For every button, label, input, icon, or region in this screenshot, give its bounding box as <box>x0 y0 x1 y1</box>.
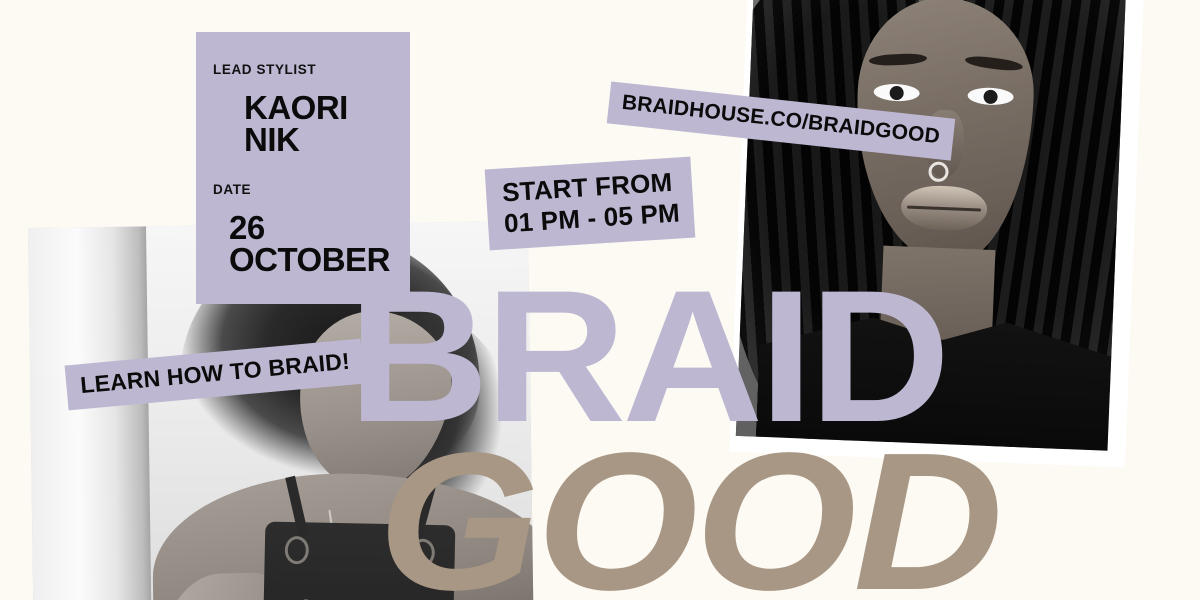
wordmark-good: GOOD <box>378 424 1000 600</box>
apron-ring-left <box>285 536 310 564</box>
doorway-shape <box>28 226 154 600</box>
info-card: LEAD STYLIST KAORI NIK DATE 26 OCTOBER <box>196 32 410 304</box>
date-label: DATE <box>213 182 251 197</box>
lead-stylist-label: LEAD STYLIST <box>213 62 316 77</box>
event-poster: braidhouse BRAID GOOD LEAD STYLIST KAORI… <box>0 0 1200 600</box>
lead-stylist-name: KAORI NIK <box>244 92 348 157</box>
start-time-sticker: START FROM 01 PM - 05 PM <box>485 157 696 251</box>
date-value: 26 OCTOBER <box>229 212 390 277</box>
